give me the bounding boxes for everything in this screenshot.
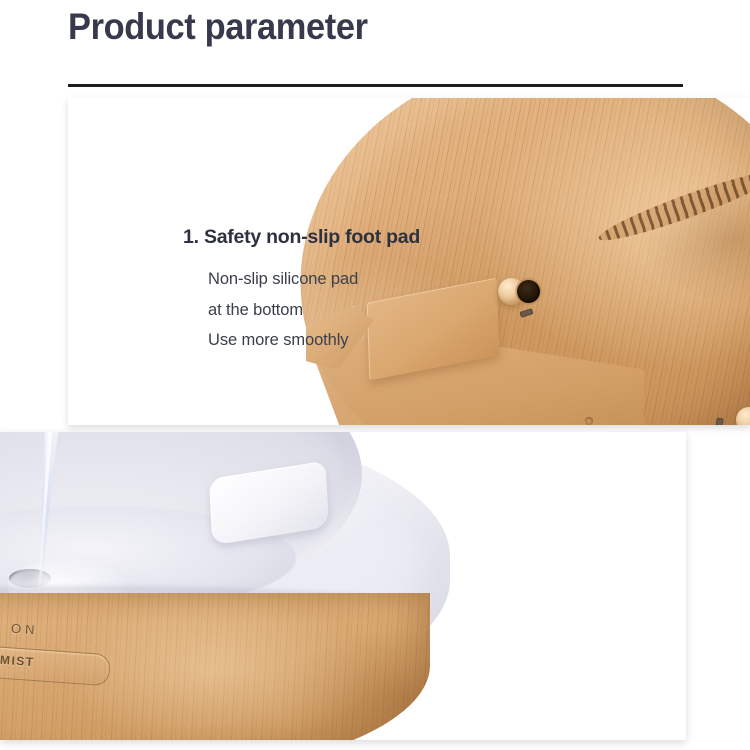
section-1-panel: 1. Safety non-slip foot pad Non-slip sil… — [68, 98, 750, 425]
section-1-line-1: Non-slip silicone pad — [208, 264, 483, 295]
section-1-line-2: at the bottom — [208, 295, 483, 326]
infographic-page: Product parameter 1. Sa — [0, 0, 750, 750]
title-divider — [68, 84, 683, 87]
section-1-heading-text: Safety non-slip foot pad — [204, 226, 420, 248]
section-1-body: Non-slip silicone pad at the bottom Use … — [208, 264, 483, 357]
control-panel-label-mist: MIST — [0, 653, 35, 669]
section-1-heading: 1. Safety non-slip foot pad — [183, 226, 483, 250]
control-panel-label-light: H ON — [0, 619, 39, 637]
section-1-text-block: 1. Safety non-slip foot pad Non-slip sil… — [183, 226, 483, 356]
vent-slot-icon — [715, 418, 724, 425]
section-1-line-3: Use more smoothly — [208, 325, 483, 356]
section-2-panel: H ON MIST 2. Corrosion-resistant water t… — [0, 432, 686, 740]
screw-hole-icon — [517, 280, 540, 303]
section-1-index: 1. — [183, 226, 199, 248]
surface-dimple-icon — [585, 417, 593, 425]
page-title: Product parameter — [68, 6, 368, 48]
section-2-photo: H ON MIST — [0, 432, 450, 740]
